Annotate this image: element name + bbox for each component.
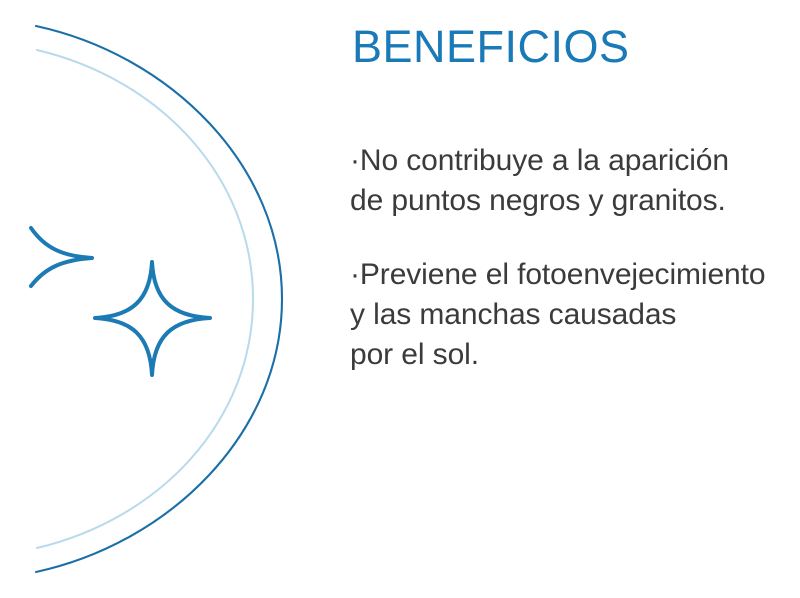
benefit-line: No contribuye a la aparición [350,141,790,181]
page-title: BENEFICIOS [352,22,630,72]
outer-arc [36,26,282,572]
text-column: BENEFICIOS No contribuye a la aparición … [350,0,790,598]
decorative-graphic [0,0,340,598]
sparkle-star [95,262,210,375]
benefit-line: y las manchas causadas [350,295,790,335]
benefit-item: No contribuye a la aparición de puntos n… [350,141,790,221]
benefit-line: de puntos negros y granitos. [350,181,790,221]
partial-sparkle-star [31,228,92,286]
benefit-line: por el sol. [350,335,790,375]
benefit-line: Previene el fotoenvejecimiento [350,255,790,295]
slide-canvas: BENEFICIOS No contribuye a la aparición … [0,0,800,598]
inner-arc [37,50,253,548]
benefit-item: Previene el fotoenvejecimiento y las man… [350,255,790,375]
